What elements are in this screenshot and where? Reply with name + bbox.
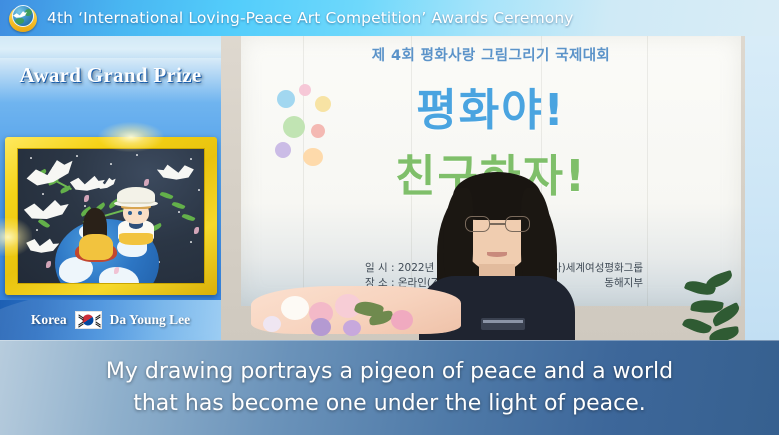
- winner-name: Da Young Lee: [110, 312, 191, 328]
- page-title: 4th ‘International Loving-Peace Art Comp…: [47, 9, 574, 27]
- globe-dove-icon: [9, 4, 37, 32]
- header-bar: 4th ‘International Loving-Peace Art Comp…: [0, 0, 779, 36]
- flower-bouquet: [251, 286, 461, 340]
- award-title: Award Grand Prize: [0, 63, 221, 88]
- right-side-panel: [745, 36, 779, 340]
- video-feed[interactable]: 제 4회 평화사랑 그림그리기 국제대회 평화야! 친구하자! 일 시 : 20…: [221, 36, 745, 340]
- south-korea-flag-icon: [75, 311, 102, 329]
- award-panel: Award Grand Prize: [0, 36, 221, 340]
- eyeglasses-icon: [465, 216, 490, 232]
- subtitle-bar: My drawing portrays a pigeon of peace an…: [0, 340, 779, 435]
- panel-top-strip: [0, 36, 221, 58]
- artwork-frame: [5, 137, 217, 295]
- potted-plant: [681, 272, 745, 340]
- award-artwork: [17, 148, 205, 284]
- banner-subtitle-ko: 제 4회 평화사랑 그림그리기 국제대회: [241, 44, 741, 65]
- banner-org-branch: 동해지부: [604, 275, 643, 290]
- winner-name-bar: Korea Da Young Lee: [0, 300, 221, 340]
- banner-kids-illustration: [269, 80, 343, 172]
- subtitle-line-1: My drawing portrays a pigeon of peace an…: [106, 356, 673, 388]
- child-figure-right: [117, 187, 155, 243]
- winner-country: Korea: [31, 312, 67, 328]
- child-figure-left: [81, 208, 109, 256]
- screen-root: 4th ‘International Loving-Peace Art Comp…: [0, 0, 779, 435]
- subtitle-line-2: that has become one under the light of p…: [133, 388, 646, 420]
